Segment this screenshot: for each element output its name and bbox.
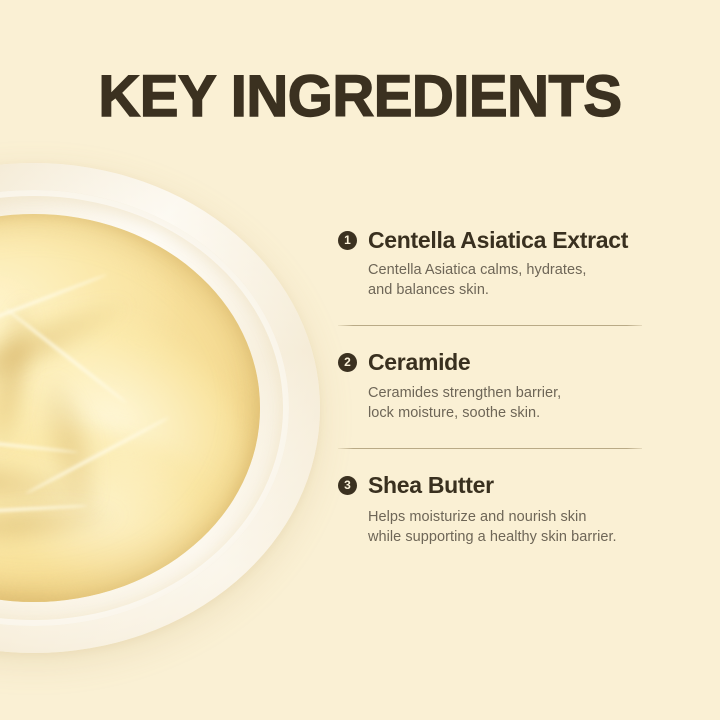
cream-ridge	[0, 273, 108, 360]
cream-ridge	[0, 504, 88, 516]
ingredients-list: 1 Centella Asiatica Extract Centella Asi…	[338, 228, 650, 547]
cream-crease	[25, 365, 115, 528]
ingredient-name: Shea Butter	[368, 473, 494, 498]
ingredient-description: Ceramides strengthen barrier, lock moist…	[368, 383, 650, 423]
ingredient-number-badge: 2	[338, 353, 357, 372]
cream-crease	[0, 492, 126, 556]
cream-highlight	[0, 214, 203, 490]
ingredient-heading-row: 3 Shea Butter	[338, 473, 650, 498]
cream-crease	[0, 281, 141, 426]
product-jar-photo	[0, 163, 320, 653]
ingredient-description: Helps moisturize and nourish skin while …	[368, 507, 650, 547]
cream-ridge	[25, 416, 170, 495]
page-title: KEY INGREDIENTS	[0, 68, 720, 126]
ingredient-heading-row: 2 Ceramide	[338, 350, 650, 375]
cream-crease	[0, 436, 108, 524]
ingredient-number-badge: 3	[338, 476, 357, 495]
cream-ridge	[4, 307, 127, 404]
ingredient-name: Ceramide	[368, 350, 470, 375]
ingredient-description: Centella Asiatica calms, hydrates, and b…	[368, 260, 650, 300]
list-divider	[338, 448, 642, 449]
ingredient-item-3: 3 Shea Butter Helps moisturize and nouri…	[338, 473, 650, 547]
list-divider	[338, 325, 642, 326]
ingredient-item-1: 1 Centella Asiatica Extract Centella Asi…	[338, 228, 650, 300]
ingredient-name: Centella Asiatica Extract	[368, 228, 628, 253]
ingredient-heading-row: 1 Centella Asiatica Extract	[338, 228, 650, 253]
cream-highlight	[0, 367, 134, 601]
ingredient-item-2: 2 Ceramide Ceramides strengthen barrier,…	[338, 350, 650, 422]
cream-crease	[0, 289, 48, 465]
ingredient-number-badge: 1	[338, 231, 357, 250]
cream-ridge	[0, 427, 79, 454]
key-ingredients-poster: KEY INGREDIENTS 1 Centella Asiatica Extr…	[0, 0, 720, 720]
